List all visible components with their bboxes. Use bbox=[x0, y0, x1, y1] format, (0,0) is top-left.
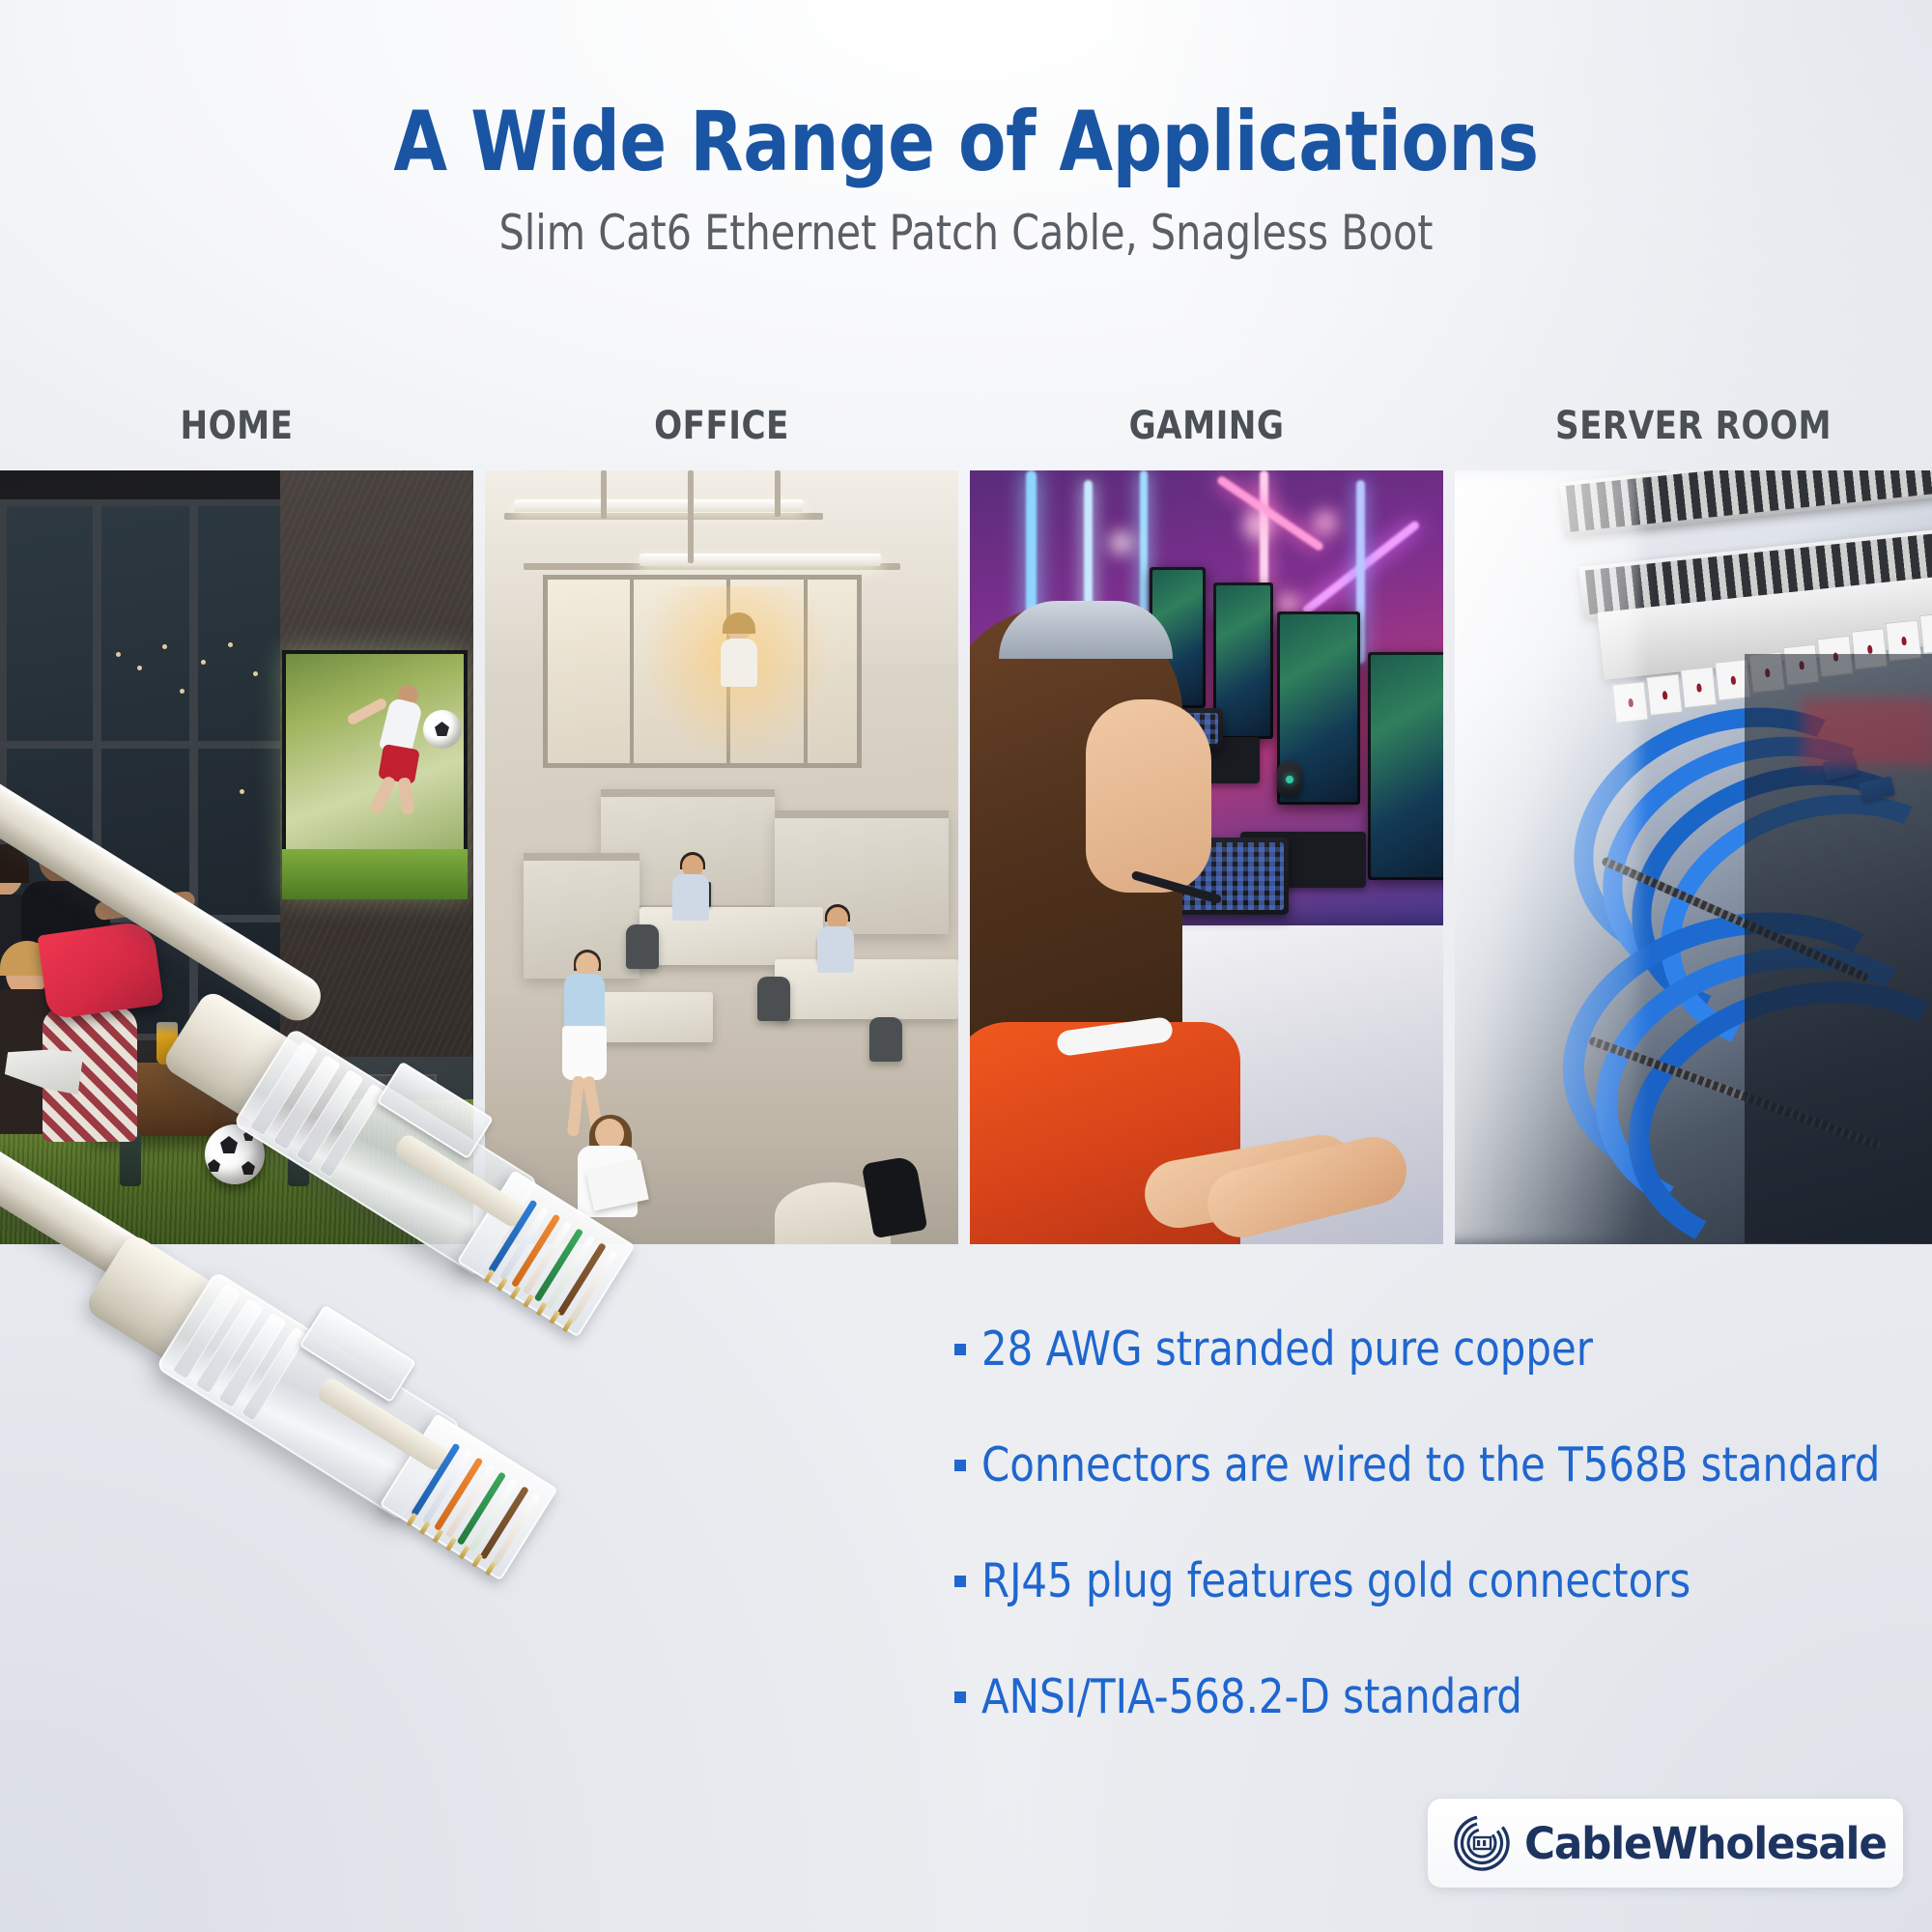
rj45-gold-pin bbox=[523, 1293, 534, 1308]
rj45-gold-pin bbox=[406, 1513, 417, 1527]
feature-item: ANSI/TIA-568.2-D standard bbox=[954, 1671, 1930, 1723]
photo-panel-server-room bbox=[1455, 470, 1932, 1244]
office-desk bbox=[775, 959, 958, 1019]
category-label-gaming: GAMING bbox=[981, 404, 1432, 448]
rj45-gold-pin bbox=[445, 1537, 457, 1551]
feature-text: RJ45 plug features gold connectors bbox=[981, 1555, 1690, 1607]
server-light-haze bbox=[1455, 470, 1638, 1244]
bullet-square-icon bbox=[954, 1691, 966, 1703]
home-red-scarf bbox=[37, 920, 163, 1020]
category-label-office: OFFICE bbox=[497, 404, 947, 448]
category-label-server-room: SERVER ROOM bbox=[1466, 404, 1919, 448]
brand-name: CableWholesale bbox=[1524, 1818, 1887, 1869]
gaming-player bbox=[970, 607, 1260, 1244]
photo-panel-office bbox=[485, 470, 958, 1244]
rj45-gold-pin bbox=[536, 1302, 548, 1317]
rj45-housing bbox=[156, 1271, 462, 1521]
rj45-gold-pin bbox=[459, 1546, 470, 1560]
bullet-square-icon bbox=[954, 1344, 966, 1355]
rj45-gold-pin bbox=[497, 1277, 508, 1292]
rj45-gold-pin bbox=[419, 1520, 431, 1535]
feature-list: 28 AWG stranded pure copper Connectors a… bbox=[954, 1323, 1930, 1787]
rj45-gold-pin bbox=[549, 1310, 560, 1324]
rack-red-indicator bbox=[1803, 698, 1932, 766]
infographic-page: A Wide Range of Applications Slim Cat6 E… bbox=[0, 0, 1932, 1932]
home-television bbox=[282, 650, 468, 899]
rj45-snagless-boot bbox=[83, 1232, 236, 1375]
office-chair bbox=[626, 924, 659, 969]
bullet-square-icon bbox=[954, 1576, 966, 1587]
feature-item: RJ45 plug features gold connectors bbox=[954, 1555, 1930, 1607]
rj45-gold-pin bbox=[562, 1319, 574, 1333]
page-subtitle: Slim Cat6 Ethernet Patch Cable, Snagless… bbox=[77, 184, 1855, 257]
feature-item: Connectors are wired to the T568B standa… bbox=[954, 1439, 1930, 1492]
feature-text: ANSI/TIA-568.2-D standard bbox=[981, 1671, 1522, 1723]
cablewholesale-c-icon bbox=[1453, 1814, 1511, 1872]
application-photo-strip bbox=[0, 470, 1932, 1244]
gaming-mouse bbox=[1277, 760, 1302, 797]
office-chair bbox=[757, 977, 790, 1021]
brand-logo[interactable]: CableWholesale bbox=[1428, 1799, 1903, 1888]
home-soccer-ball bbox=[205, 1124, 265, 1184]
category-labels: HOME OFFICE GAMING SERVER ROOM bbox=[0, 404, 1932, 462]
gaming-headset bbox=[999, 601, 1173, 659]
office-seated-worker bbox=[665, 855, 715, 921]
home-viewers-group bbox=[0, 781, 230, 1128]
rj45-gold-pin bbox=[510, 1286, 522, 1300]
rj45-latch-clip bbox=[299, 1305, 416, 1404]
photo-panel-gaming bbox=[970, 470, 1443, 1244]
office-seated-worker bbox=[810, 907, 860, 973]
rj45-plug-head bbox=[380, 1413, 558, 1580]
photo-panel-home bbox=[0, 470, 473, 1244]
gaming-monitor bbox=[1368, 652, 1443, 880]
header: A Wide Range of Applications Slim Cat6 E… bbox=[0, 0, 1932, 257]
tv-soccer-player bbox=[375, 700, 431, 814]
rj45-gold-pin bbox=[471, 1553, 483, 1568]
category-label-home: HOME bbox=[12, 404, 462, 448]
rj45-connector-lower bbox=[0, 1210, 636, 1763]
page-title: A Wide Range of Applications bbox=[68, 0, 1864, 184]
feature-item: 28 AWG stranded pure copper bbox=[954, 1323, 1930, 1376]
tv-soccer-ball bbox=[423, 710, 462, 749]
office-person-standing-back bbox=[717, 615, 761, 687]
feature-text: 28 AWG stranded pure copper bbox=[981, 1323, 1593, 1376]
rj45-gold-pin bbox=[485, 1562, 497, 1577]
rj45-gold-pin bbox=[483, 1269, 495, 1284]
feature-text: Connectors are wired to the T568B standa… bbox=[981, 1439, 1880, 1492]
office-chair bbox=[869, 1017, 902, 1062]
bullet-square-icon bbox=[954, 1460, 966, 1471]
rj45-gold-pin bbox=[433, 1529, 444, 1544]
